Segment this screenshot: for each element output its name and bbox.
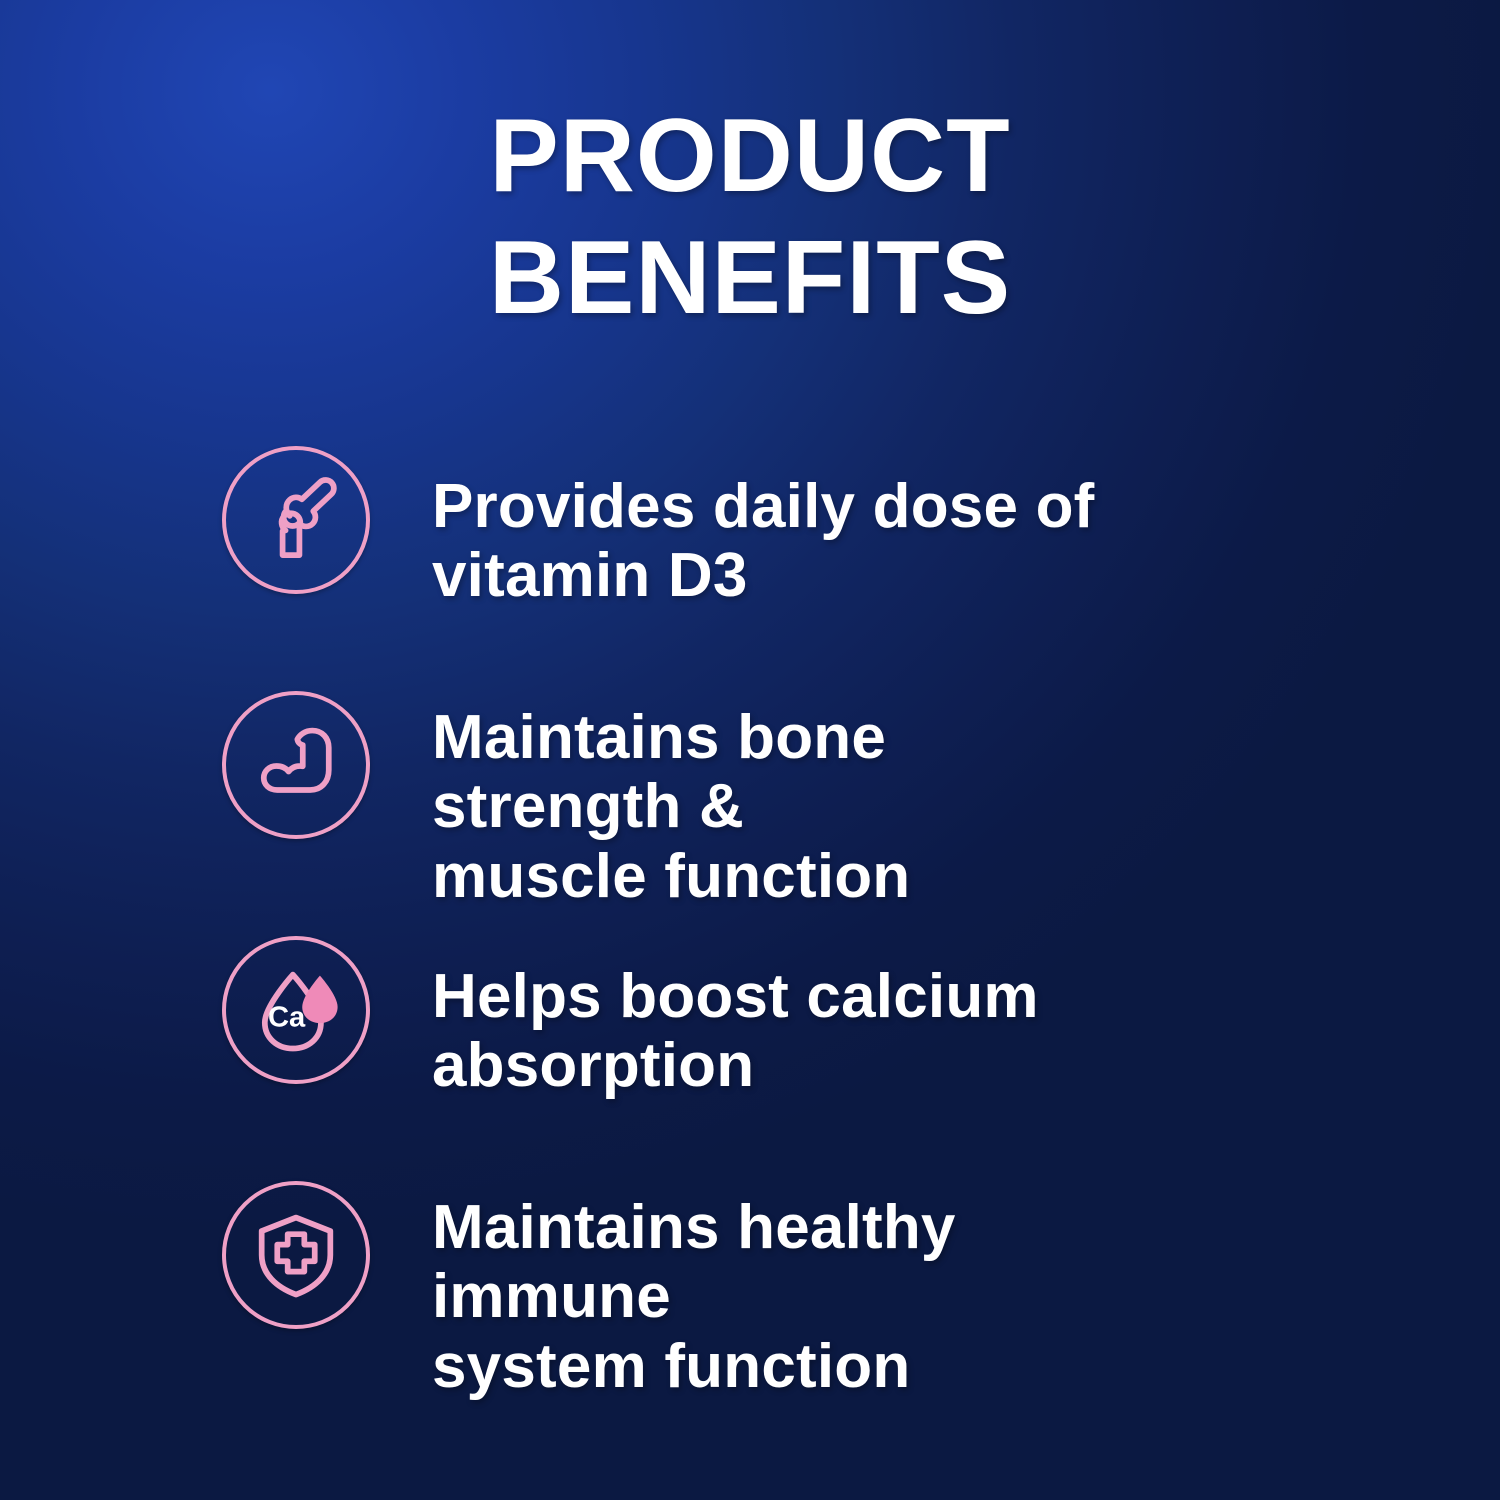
flexed-bicep-icon: [222, 691, 370, 839]
page-title-line-1: PRODUCT: [120, 96, 1380, 218]
calcium-symbol-label: Ca: [268, 1002, 306, 1034]
benefits-list: Provides daily dose of vitamin D3 Mainta…: [0, 446, 1500, 1426]
bone-joint-icon: [222, 446, 370, 594]
shield-cross-icon: [222, 1181, 370, 1329]
benefit-label-line-2: muscle function: [432, 842, 910, 911]
benefit-item-calcium-absorption: Ca Helps boost calcium absorption: [0, 936, 1500, 1181]
benefit-label-line-1: Maintains bone strength &: [432, 703, 886, 841]
benefit-label-line-1: Helps boost calcium absorption: [432, 962, 1039, 1100]
benefit-item-immune-system: Maintains healthy immune system function: [0, 1181, 1500, 1426]
product-benefits-panel: PRODUCT BENEFITS Provides daily dose of …: [0, 0, 1500, 1500]
benefit-label-bone-strength: Maintains bone strength & muscle functio…: [370, 691, 1130, 911]
calcium-droplet-icon: Ca: [222, 936, 370, 1084]
page-title-line-2: BENEFITS: [120, 218, 1380, 340]
benefit-item-vitamin-d3: Provides daily dose of vitamin D3: [0, 446, 1500, 691]
benefit-label-line-1: Provides daily dose of vitamin D3: [432, 472, 1094, 610]
page-title: PRODUCT BENEFITS: [0, 96, 1500, 339]
benefit-label-vitamin-d3: Provides daily dose of vitamin D3: [370, 446, 1130, 611]
benefit-label-line-1: Maintains healthy immune: [432, 1193, 956, 1331]
benefit-label-line-2: system function: [432, 1332, 910, 1401]
benefit-label-calcium-absorption: Helps boost calcium absorption: [370, 936, 1130, 1101]
benefit-label-immune-system: Maintains healthy immune system function: [370, 1181, 1130, 1401]
benefit-item-bone-strength: Maintains bone strength & muscle functio…: [0, 691, 1500, 936]
